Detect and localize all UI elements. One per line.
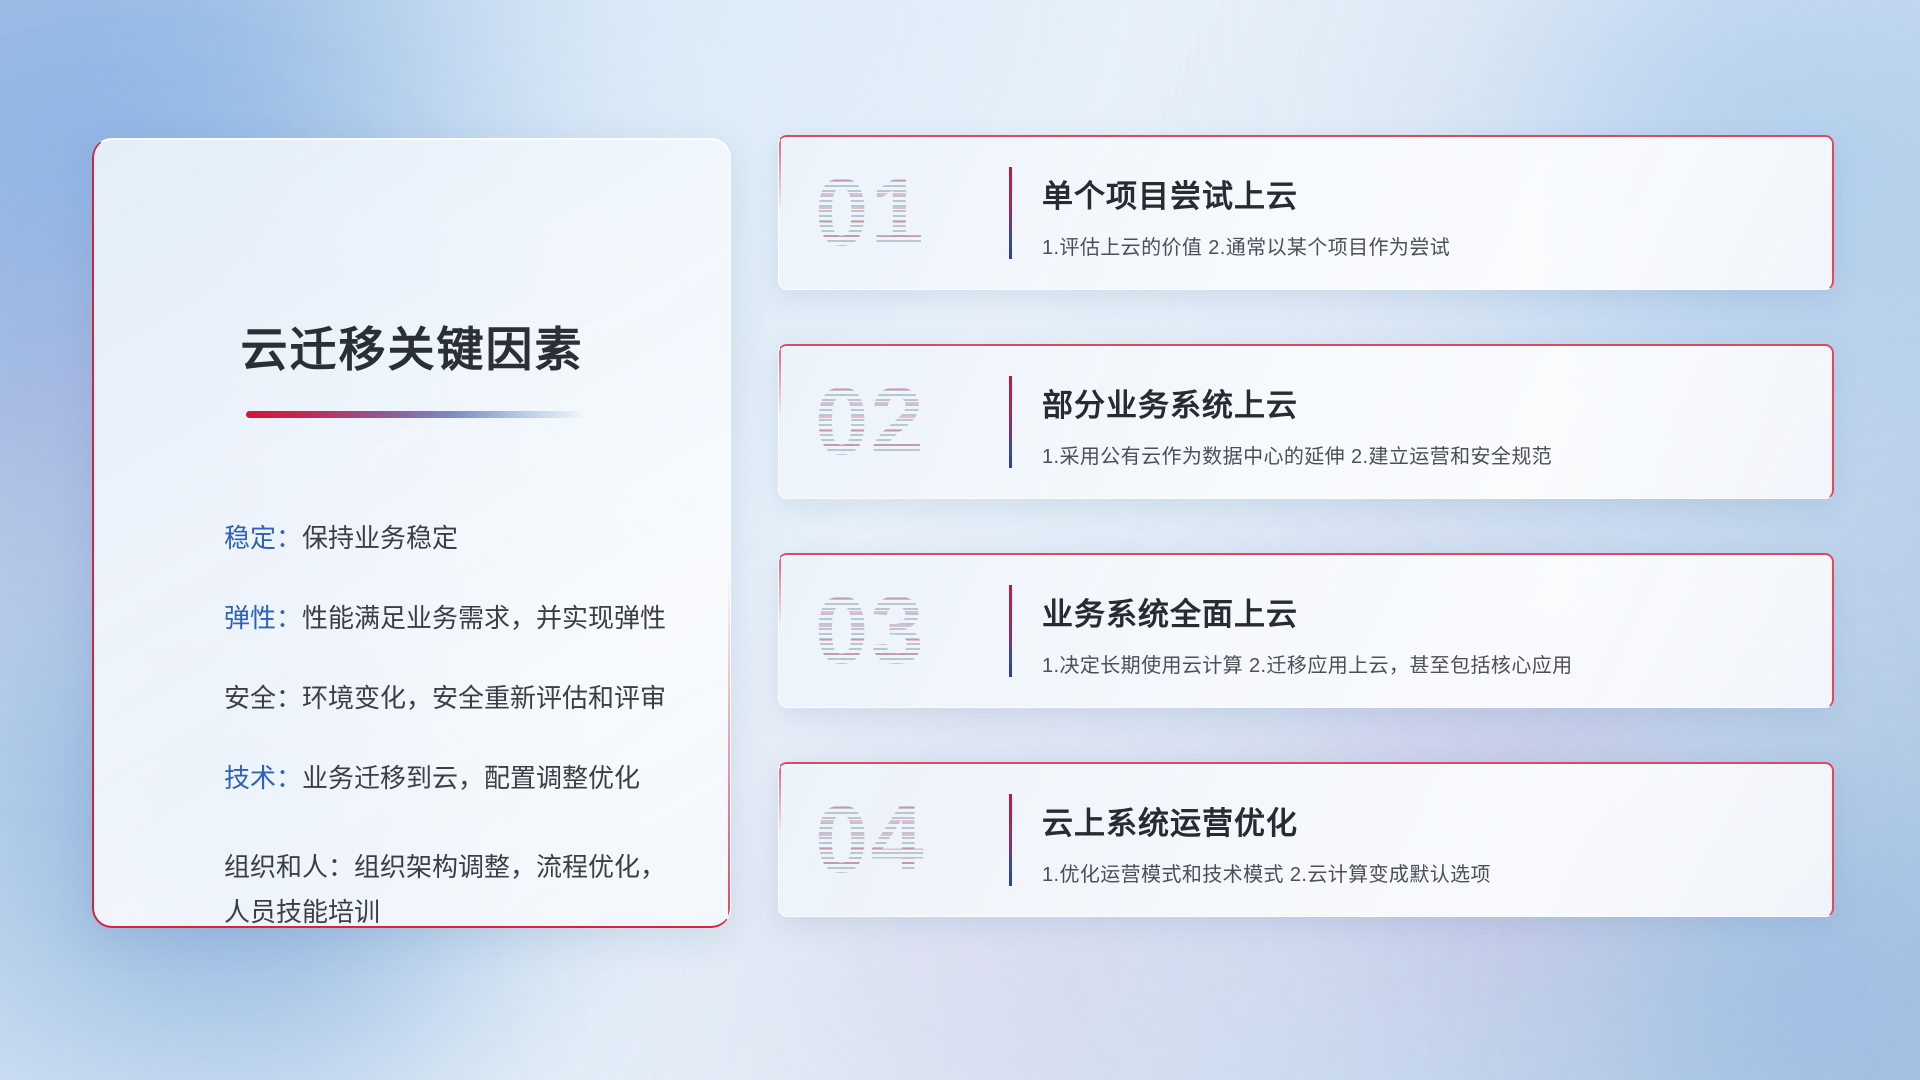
card-body: 部分业务系统上云1.采用公有云作为数据中心的延伸 2.建立运营和安全规范 xyxy=(1042,380,1802,469)
step-number-watermark-tint: 04 xyxy=(815,792,926,888)
factor-list: 稳定：保持业务稳定弹性：性能满足业务需求，并实现弹性安全：环境变化，安全重新评估… xyxy=(224,525,690,928)
factor-row: 稳定：保持业务稳定 xyxy=(224,525,690,551)
card-subtitle: 1.采用公有云作为数据中心的延伸 2.建立运营和安全规范 xyxy=(1042,440,1802,469)
factor-label: 安全： xyxy=(224,683,302,713)
factor-label: 稳定： xyxy=(224,523,302,553)
step-number-watermark: 0101 xyxy=(815,165,926,261)
card-body: 单个项目尝试上云1.评估上云的价值 2.通常以某个项目作为尝试 xyxy=(1042,171,1802,260)
card-subtitle: 1.优化运营模式和技术模式 2.云计算变成默认选项 xyxy=(1042,858,1802,887)
factor-text: 保持业务稳定 xyxy=(302,523,458,553)
step-number-watermark: 0303 xyxy=(815,583,926,679)
factor-label: 技术： xyxy=(224,763,302,793)
card-divider-bar xyxy=(1009,794,1012,886)
step-number-watermark-tint: 02 xyxy=(815,374,926,470)
factor-row: 组织和人：组织架构调整，流程优化，人员技能培训 xyxy=(224,845,690,928)
step-card[interactable]: 0101单个项目尝试上云1.评估上云的价值 2.通常以某个项目作为尝试 xyxy=(778,135,1834,290)
panel-title: 云迁移关键因素 xyxy=(94,311,730,380)
step-number-watermark: 0404 xyxy=(815,792,926,888)
card-subtitle: 1.决定长期使用云计算 2.迁移应用上云，甚至包括核心应用 xyxy=(1042,649,1802,678)
factor-row: 技术：业务迁移到云，配置调整优化 xyxy=(224,765,690,791)
factor-text: 环境变化，安全重新评估和评审 xyxy=(302,683,666,713)
step-card[interactable]: 0303业务系统全面上云1.决定长期使用云计算 2.迁移应用上云，甚至包括核心应… xyxy=(778,553,1834,708)
title-underline-rule xyxy=(246,411,586,418)
factor-text: 业务迁移到云，配置调整优化 xyxy=(302,763,640,793)
step-number-watermark-tint: 03 xyxy=(815,583,926,679)
step-number-watermark-tint: 01 xyxy=(815,165,926,261)
card-divider-bar xyxy=(1009,167,1012,259)
factor-text: 性能满足业务需求，并实现弹性 xyxy=(302,603,666,633)
slide-stage: 云迁移关键因素 稳定：保持业务稳定弹性：性能满足业务需求，并实现弹性安全：环境变… xyxy=(0,0,1920,1080)
card-body: 云上系统运营优化1.优化运营模式和技术模式 2.云计算变成默认选项 xyxy=(1042,798,1802,887)
factor-row: 弹性：性能满足业务需求，并实现弹性 xyxy=(224,605,690,631)
card-divider-bar xyxy=(1009,376,1012,468)
step-card[interactable]: 0404云上系统运营优化1.优化运营模式和技术模式 2.云计算变成默认选项 xyxy=(778,762,1834,917)
card-divider-bar xyxy=(1009,585,1012,677)
factor-label: 弹性： xyxy=(224,603,302,633)
card-body: 业务系统全面上云1.决定长期使用云计算 2.迁移应用上云，甚至包括核心应用 xyxy=(1042,589,1802,678)
card-title: 单个项目尝试上云 xyxy=(1042,171,1802,216)
card-subtitle: 1.评估上云的价值 2.通常以某个项目作为尝试 xyxy=(1042,231,1802,260)
step-card[interactable]: 0202部分业务系统上云1.采用公有云作为数据中心的延伸 2.建立运营和安全规范 xyxy=(778,344,1834,499)
step-number-watermark: 0202 xyxy=(815,374,926,470)
step-card-list: 0101单个项目尝试上云1.评估上云的价值 2.通常以某个项目作为尝试0202部… xyxy=(778,135,1834,917)
factor-row: 安全：环境变化，安全重新评估和评审 xyxy=(224,685,690,711)
card-title: 部分业务系统上云 xyxy=(1042,380,1802,425)
card-title: 业务系统全面上云 xyxy=(1042,589,1802,634)
card-title: 云上系统运营优化 xyxy=(1042,798,1802,843)
factor-label: 组织和人： xyxy=(224,852,354,882)
key-factors-panel: 云迁移关键因素 稳定：保持业务稳定弹性：性能满足业务需求，并实现弹性安全：环境变… xyxy=(92,138,731,928)
